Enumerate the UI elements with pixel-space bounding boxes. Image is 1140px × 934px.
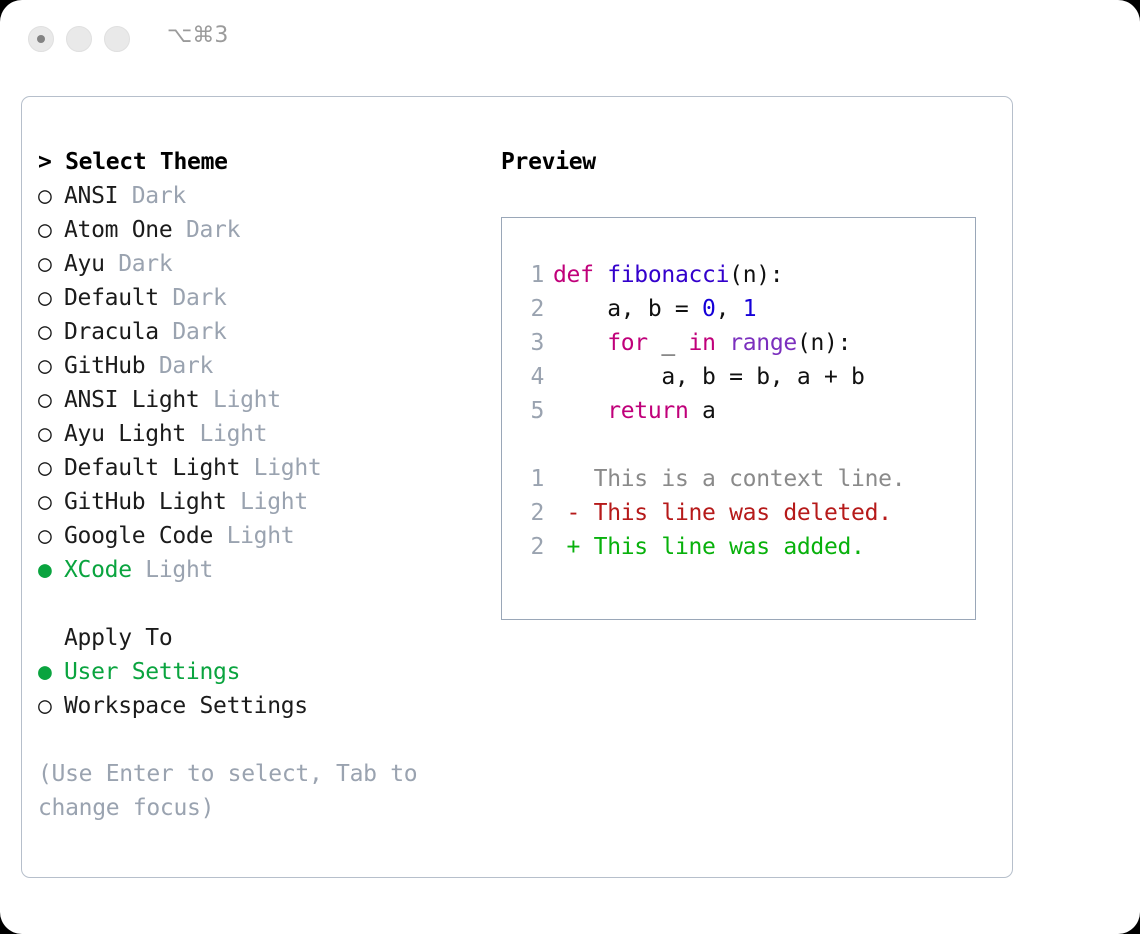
preview-box: 1def fibonacci(n):2 a, b = 0, 13 for _ i… [501, 217, 976, 620]
window-controls [28, 26, 130, 52]
apply-to-heading-marker: ○ [38, 621, 64, 655]
apply-to-heading: ○Apply To [38, 621, 478, 655]
theme-item-ayu[interactable]: ○Ayu Dark [38, 247, 478, 281]
select-theme-heading: > Select Theme [38, 145, 478, 179]
theme-item-ansi-light[interactable]: ○ANSI Light Light [38, 383, 478, 417]
theme-item-ansi[interactable]: ○ANSI Dark [38, 179, 478, 213]
traffic-light-dot-icon [37, 35, 45, 43]
code-token: a, b = [553, 296, 702, 322]
radio-unselected-icon: ○ [38, 349, 64, 383]
theme-item-github-light[interactable]: ○GitHub Light Light [38, 485, 478, 519]
diff-line: 2 - This line was deleted. [520, 496, 975, 530]
diff-line-number: 1 [520, 462, 544, 496]
preview-heading: Preview [501, 145, 1001, 179]
code-token: (n): [729, 262, 783, 288]
theme-item-variant: Dark [159, 319, 227, 345]
code-token: 1 [743, 296, 757, 322]
code-token: in [689, 330, 716, 356]
theme-item-label: Default Light [64, 455, 240, 481]
theme-selection-pane: > Select Theme ○ANSI Dark○Atom One Dark○… [38, 145, 478, 825]
theme-item-variant: Dark [105, 251, 173, 277]
theme-item-label: Dracula [64, 319, 159, 345]
code-token: a, b = b, a + b [553, 364, 865, 390]
diff-line-text: This line was added. [594, 534, 865, 560]
code-diff-gap [520, 428, 975, 462]
diff-line-text: This is a context line. [594, 466, 906, 492]
radio-unselected-icon: ○ [38, 213, 64, 247]
theme-item-github[interactable]: ○GitHub Dark [38, 349, 478, 383]
radio-unselected-icon: ○ [38, 247, 64, 281]
apply-to-item-label: Workspace Settings [64, 693, 308, 719]
diff-marker: + [553, 534, 594, 560]
theme-item-label: GitHub Light [64, 489, 227, 515]
radio-unselected-icon: ○ [38, 485, 64, 519]
radio-selected-icon: ● [38, 655, 64, 689]
theme-item-label: Ayu [64, 251, 105, 277]
diff-line-number: 2 [520, 530, 544, 564]
radio-unselected-icon: ○ [38, 383, 64, 417]
traffic-light-maximize-icon[interactable] [104, 26, 130, 52]
diff-line: 2 + This line was added. [520, 530, 975, 564]
theme-item-label: Default [64, 285, 159, 311]
code-sample: 1def fibonacci(n):2 a, b = 0, 13 for _ i… [520, 258, 975, 428]
apply-to-list: ●User Settings○Workspace Settings [38, 655, 478, 723]
theme-item-label: XCode [64, 557, 132, 583]
pane-spacer [38, 587, 478, 621]
traffic-light-minimize-icon[interactable] [66, 26, 92, 52]
diff-marker [553, 466, 594, 492]
code-line: 1def fibonacci(n): [520, 258, 975, 292]
theme-item-label: ANSI Light [64, 387, 199, 413]
code-line: 3 for _ in range(n): [520, 326, 975, 360]
theme-item-label: Ayu Light [64, 421, 186, 447]
diff-sample: 1 This is a context line.2 - This line w… [520, 462, 975, 564]
code-line-number: 4 [520, 360, 544, 394]
app-window: ⌥⌘3 > Select Theme ○ANSI Dark○Atom One D… [0, 0, 1140, 934]
apply-to-item-user-settings[interactable]: ●User Settings [38, 655, 478, 689]
code-token: (n): [797, 330, 851, 356]
theme-item-variant: Dark [145, 353, 213, 379]
code-token: _ [648, 330, 689, 356]
preview-pane: Preview 1def fibonacci(n):2 a, b = 0, 13… [501, 145, 1001, 620]
theme-item-variant: Light [240, 455, 321, 481]
apply-to-item-workspace-settings[interactable]: ○Workspace Settings [38, 689, 478, 723]
code-token: a [689, 398, 716, 424]
theme-item-xcode[interactable]: ●XCode Light [38, 553, 478, 587]
theme-item-google-code[interactable]: ○Google Code Light [38, 519, 478, 553]
theme-item-label: Google Code [64, 523, 213, 549]
theme-item-variant: Dark [172, 217, 240, 243]
theme-item-variant: Light [132, 557, 213, 583]
code-token: 0 [702, 296, 716, 322]
main-card: > Select Theme ○ANSI Dark○Atom One Dark○… [21, 96, 1013, 878]
theme-item-ayu-light[interactable]: ○Ayu Light Light [38, 417, 478, 451]
theme-item-variant: Dark [118, 183, 186, 209]
theme-item-variant: Light [199, 387, 280, 413]
radio-unselected-icon: ○ [38, 315, 64, 349]
theme-item-label: Atom One [64, 217, 172, 243]
radio-selected-icon: ● [38, 553, 64, 587]
code-line-number: 1 [520, 258, 544, 292]
diff-marker: - [553, 500, 594, 526]
theme-item-default-light[interactable]: ○Default Light Light [38, 451, 478, 485]
apply-to-heading-label: Apply To [64, 625, 172, 651]
traffic-light-close-icon[interactable] [28, 26, 54, 52]
code-line: 5 return a [520, 394, 975, 428]
code-token: fibonacci [607, 262, 729, 288]
radio-unselected-icon: ○ [38, 179, 64, 213]
radio-unselected-icon: ○ [38, 281, 64, 315]
theme-item-atom-one[interactable]: ○Atom One Dark [38, 213, 478, 247]
code-line: 2 a, b = 0, 1 [520, 292, 975, 326]
theme-item-variant: Light [227, 489, 308, 515]
code-line-number: 5 [520, 394, 544, 428]
theme-item-label: GitHub [64, 353, 145, 379]
keyboard-hint-text: (Use Enter to select, Tab to change focu… [38, 757, 458, 825]
radio-unselected-icon: ○ [38, 451, 64, 485]
code-line-number: 2 [520, 292, 544, 326]
radio-unselected-icon: ○ [38, 689, 64, 723]
diff-line: 1 This is a context line. [520, 462, 975, 496]
code-token: def [553, 262, 607, 288]
code-token [716, 330, 730, 356]
radio-unselected-icon: ○ [38, 519, 64, 553]
title-bar: ⌥⌘3 [0, 0, 1140, 76]
theme-list: ○ANSI Dark○Atom One Dark○Ayu Dark○Defaul… [38, 179, 478, 587]
code-token: for [607, 330, 648, 356]
keyboard-shortcut-label: ⌥⌘3 [167, 23, 228, 48]
diff-line-text: This line was deleted. [594, 500, 892, 526]
code-line: 4 a, b = b, a + b [520, 360, 975, 394]
theme-item-default[interactable]: ○Default Dark [38, 281, 478, 315]
theme-item-variant: Dark [159, 285, 227, 311]
code-token: , [716, 296, 743, 322]
apply-to-item-label: User Settings [64, 659, 240, 685]
theme-item-variant: Light [186, 421, 267, 447]
code-token [553, 330, 607, 356]
theme-item-label: ANSI [64, 183, 118, 209]
code-token [553, 398, 607, 424]
code-token: return [607, 398, 688, 424]
radio-unselected-icon: ○ [38, 417, 64, 451]
code-line-number: 3 [520, 326, 544, 360]
code-token: range [729, 330, 797, 356]
diff-line-number: 2 [520, 496, 544, 530]
theme-item-variant: Light [213, 523, 294, 549]
theme-item-dracula[interactable]: ○Dracula Dark [38, 315, 478, 349]
